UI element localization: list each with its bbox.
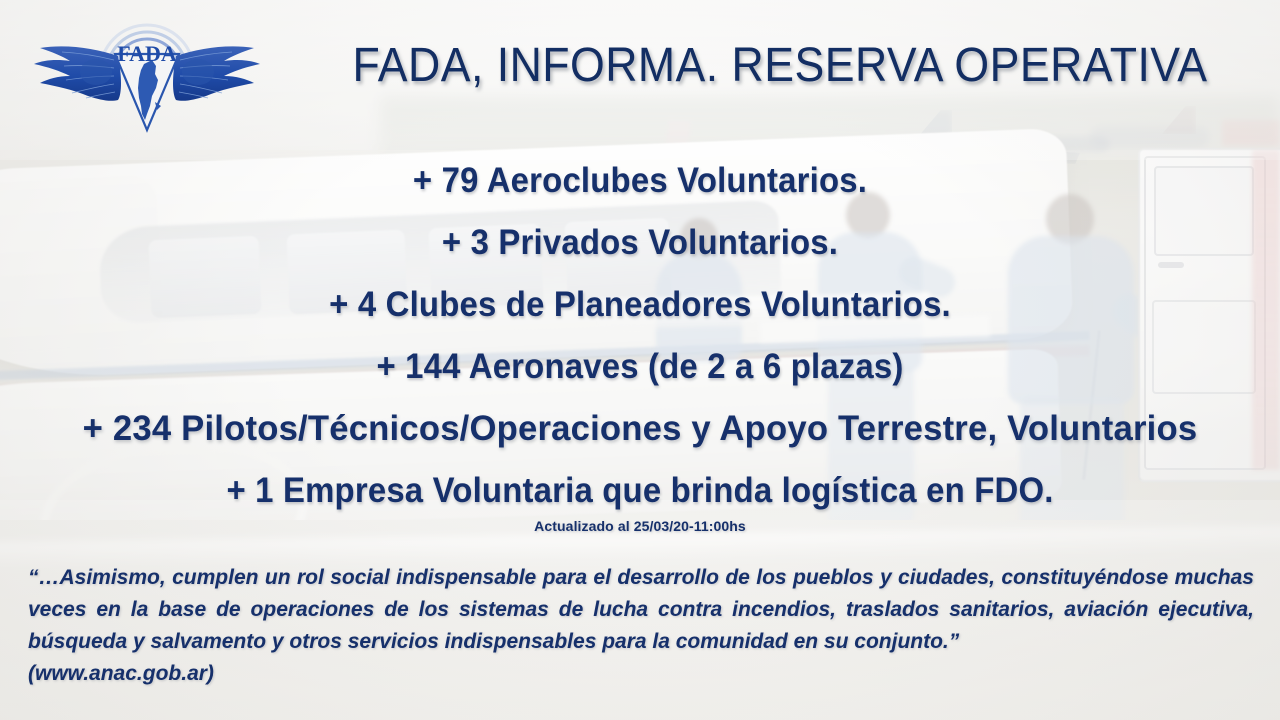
stat-line: + 79 Aeroclubes Voluntarios. <box>38 150 1241 212</box>
stat-line: + 4 Clubes de Planeadores Voluntarios. <box>38 274 1241 336</box>
stat-line: + 234 Pilotos/Técnicos/Operaciones y Apo… <box>6 398 1273 460</box>
logo-left-wing <box>34 46 121 100</box>
quote-block: “…Asimismo, cumplen un rol social indisp… <box>28 562 1254 690</box>
logo-right-wing <box>173 46 260 100</box>
fada-logo: FADA <box>22 14 272 134</box>
stat-line: + 3 Privados Voluntarios. <box>38 212 1241 274</box>
quote-text: “…Asimismo, cumplen un rol social indisp… <box>28 566 1254 653</box>
stats-list: + 79 Aeroclubes Voluntarios. + 3 Privado… <box>0 150 1280 522</box>
poster-content: FADA <box>0 0 1280 720</box>
logo-wordmark-text: FADA <box>117 41 177 66</box>
stat-line: + 1 Empresa Voluntaria que brinda logíst… <box>38 460 1241 522</box>
quote-source: (www.anac.gob.ar) <box>28 658 1254 690</box>
updated-timestamp: Actualizado al 25/03/20-11:00hs <box>0 518 1280 534</box>
poster-root: FADA <box>0 0 1280 720</box>
page-title: FADA, INFORMA. RESERVA OPERATIVA <box>334 38 1227 93</box>
stat-line: + 144 Aeronaves (de 2 a 6 plazas) <box>38 336 1241 398</box>
